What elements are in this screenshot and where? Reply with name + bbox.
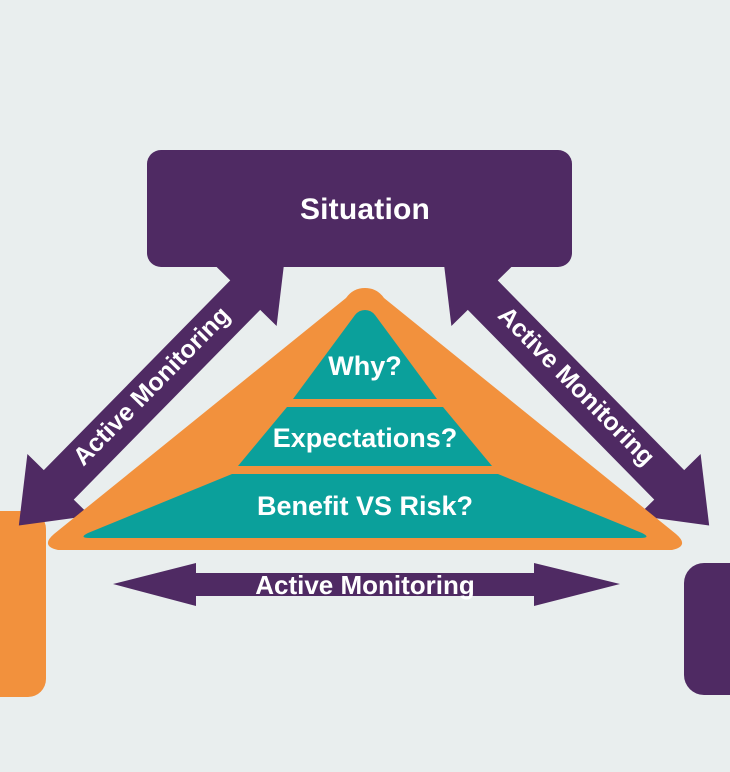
situation-box (147, 150, 572, 267)
diagram-canvas: Situation Why? Expectations? Benefit VS … (0, 0, 730, 772)
diagram-vector-layer (0, 0, 730, 772)
right-edge-card (684, 563, 730, 695)
left-edge-card (0, 511, 46, 697)
bottom-horizontal-arrow (113, 563, 620, 606)
